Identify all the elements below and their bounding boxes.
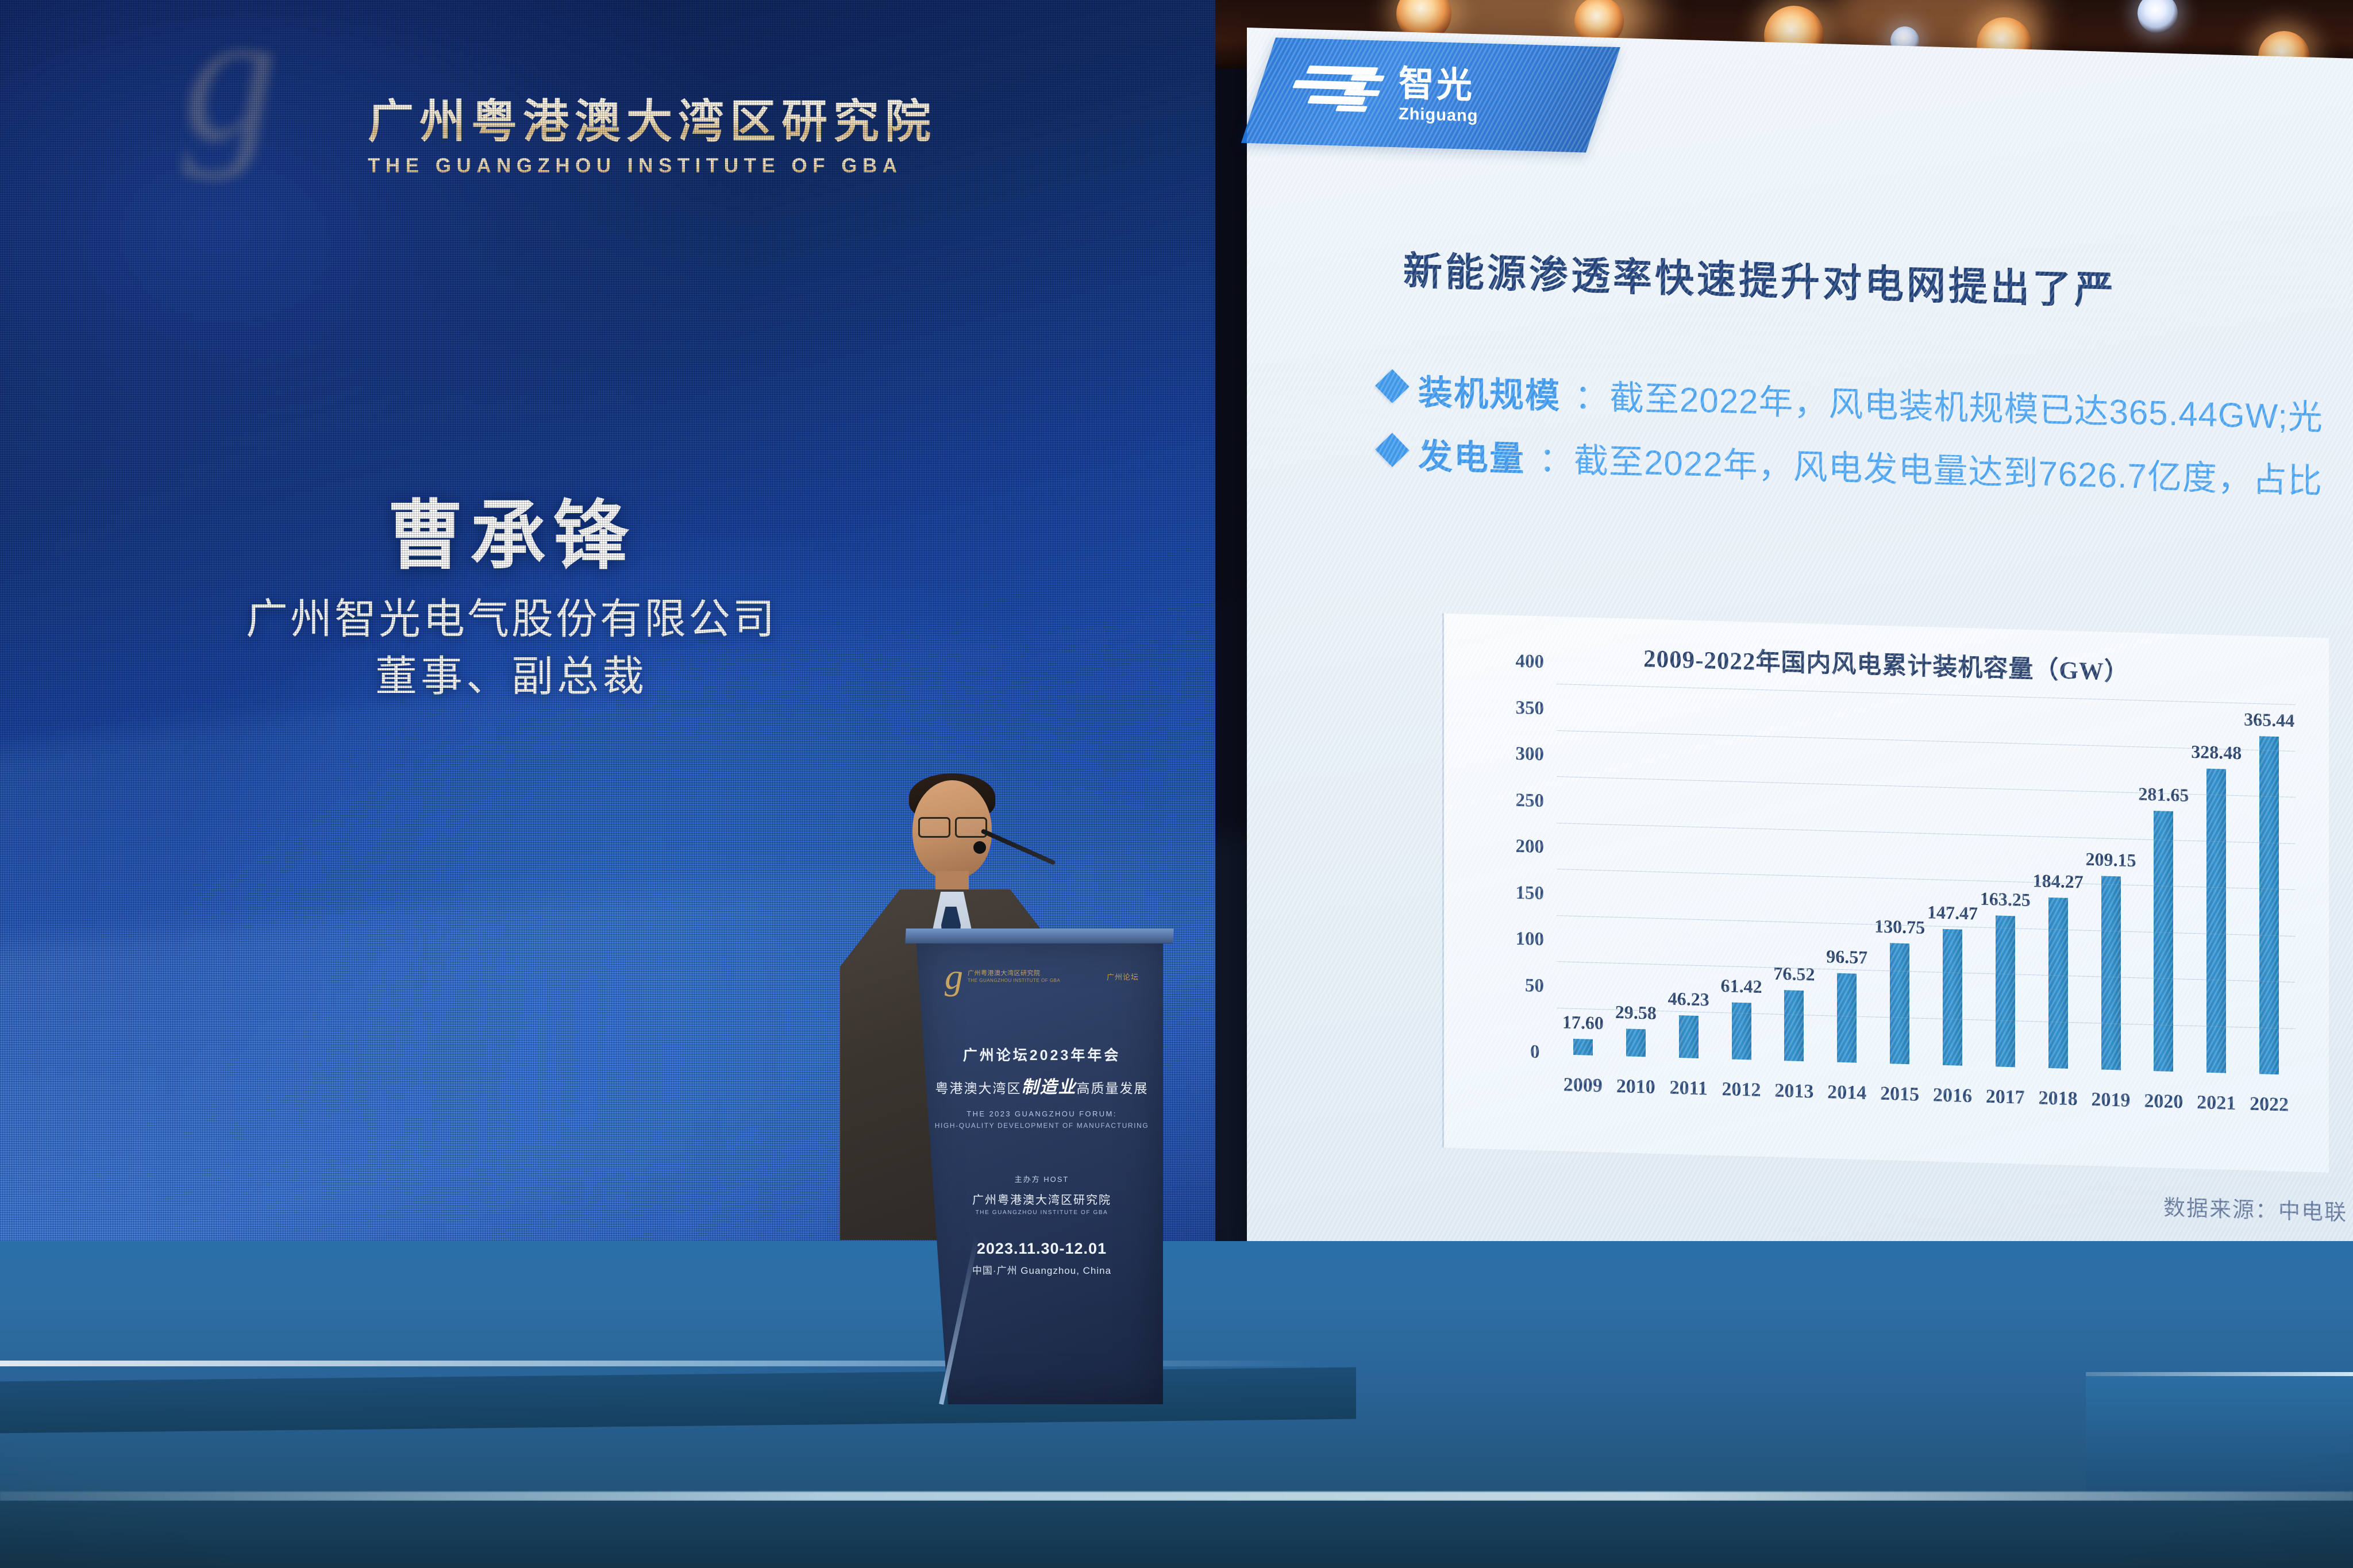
subheading-emphasis: 制造业 (1022, 1078, 1077, 1097)
presentation-screen: 智光 Zhiguang 新能源渗透率快速提升对电网提出了严 装机规模 ：截至20… (1247, 28, 2353, 1294)
chart-bar (1996, 916, 2015, 1068)
podium-forum-en-line1: THE 2023 GUANGZHOU FORUM: (931, 1109, 1153, 1118)
x-axis-tick-label: 2009 (1557, 1074, 1609, 1097)
chart-bar (2154, 811, 2173, 1072)
eyeglasses-icon (918, 817, 987, 834)
x-axis-tick-label: 2016 (1926, 1084, 1979, 1108)
y-axis-tick-label: 150 (1516, 882, 1545, 904)
bar-value-label: 365.44 (2244, 708, 2294, 731)
x-axis-tick-label: 2014 (1820, 1081, 1873, 1105)
podium-top-surface (905, 929, 1173, 943)
chart-bar (1573, 1039, 1593, 1055)
zhiguang-bars-icon (1292, 63, 1384, 122)
speaker-name: 曹承锋 (132, 494, 891, 577)
bar-value-label: 46.23 (1668, 988, 1709, 1010)
subheading-prefix: 粤港澳大湾区 (935, 1081, 1022, 1096)
bar-value-label: 209.15 (2086, 849, 2136, 871)
microphone-icon (973, 841, 986, 854)
bar-value-label: 96.57 (1826, 946, 1867, 968)
x-axis-tick-label: 2020 (2137, 1090, 2190, 1114)
bar-value-label: 184.27 (2033, 870, 2084, 893)
x-axis-tick-label: 2019 (2085, 1089, 2138, 1112)
podium-host-en: THE GUANGZHOU INSTITUTE OF GBA (931, 1209, 1153, 1216)
chart-bar (2048, 897, 2068, 1069)
bar-value-label: 147.47 (1927, 901, 1978, 924)
chart-bar (2101, 876, 2121, 1070)
x-axis-tick-label: 2012 (1715, 1078, 1768, 1102)
chart-bar (1626, 1029, 1646, 1057)
chart-bar (1837, 973, 1857, 1062)
x-axis-tick-label: 2017 (1979, 1086, 2032, 1109)
x-axis-tick-label: 2010 (1609, 1076, 1662, 1099)
y-axis-tick-label: 100 (1516, 929, 1545, 950)
institute-name-block: 广州粤港澳大湾区研究院 THE GUANGZHOU INSTITUTE OF G… (368, 98, 1126, 178)
podium-forum-en-line2: HIGH-QUALITY DEVELOPMENT OF MANUFACTURIN… (931, 1122, 1153, 1130)
podium-logo-en: THE GUANGZHOU INSTITUTE OF GBA (968, 978, 1060, 984)
right-dais (2086, 1376, 2353, 1491)
bar-value-label: 130.75 (1874, 915, 1925, 938)
bullet-text: ：截至2022年，风电发电量达到7626.7亿度，占比 (1539, 432, 2323, 503)
y-axis-zero-label: 0 (1530, 1042, 1540, 1063)
podium-g-mark-icon: g (945, 962, 963, 991)
gba-logo: g (183, 5, 321, 177)
zhiguang-name-en: Zhiguang (1399, 106, 1478, 125)
podium-forum-subheading: 粤港澳大湾区制造业高质量发展 (931, 1073, 1153, 1098)
chart-bar (1943, 929, 1962, 1065)
chart-x-axis: 2009201020112012201320142015201620172018… (1557, 1074, 2296, 1116)
institute-name-cn: 广州粤港澳大湾区研究院 (368, 98, 1126, 147)
speaker-title: 董事、副总裁 (132, 650, 891, 703)
speaker-podium: g 广州粤港澳大湾区研究院 THE GUANGZHOU INSTITUTE OF… (916, 938, 1163, 1404)
chart-bar (1679, 1015, 1699, 1058)
podium-event-city: 中国·广州 Guangzhou, China (931, 1262, 1153, 1277)
gba-g-mark-icon: g (183, 5, 303, 177)
bar-value-label: 328.48 (2191, 741, 2242, 764)
y-axis-tick-label: 400 (1516, 651, 1545, 673)
slide-title: 新能源渗透率快速提升对电网提出了严 (1403, 239, 2353, 326)
bar-value-label: 76.52 (1773, 962, 1815, 985)
chart-bar (1784, 990, 1804, 1061)
podium-host-cn: 广州粤港澳大湾区研究院 (931, 1191, 1153, 1207)
bar-value-label: 17.60 (1562, 1011, 1604, 1034)
bullet-label: 发电量 (1418, 428, 1525, 481)
y-axis-tick-label: 50 (1525, 975, 1544, 997)
chart-source-note: 数据来源：中电联 (2163, 1190, 2347, 1227)
bullet-text: ：截至2022年，风电装机规模已达365.44GW;光 (1574, 369, 2323, 440)
podium-city-mark: 广州论坛 (1107, 971, 1139, 982)
floor-foreground (0, 1501, 2353, 1568)
microphone-boom (980, 829, 1056, 865)
wind-capacity-bar-chart: 2009-2022年国内风电累计装机容量（GW） 17.6029.5846.23… (1442, 613, 2329, 1172)
subheading-suffix: 高质量发展 (1077, 1081, 1149, 1096)
x-axis-tick-label: 2021 (2190, 1092, 2243, 1115)
x-axis-tick-label: 2013 (1767, 1080, 1820, 1103)
bar-value-label: 281.65 (2138, 783, 2189, 806)
bar-value-label: 61.42 (1721, 975, 1762, 997)
conference-stage-photo: g 广州粤港澳大湾区研究院 THE GUANGZHOU INSTITUTE OF… (0, 0, 2353, 1568)
speaker-info-block: 曹承锋 广州智光电气股份有限公司 董事、副总裁 (132, 494, 891, 703)
podium-event-date: 2023.11.30-12.01 (931, 1240, 1153, 1258)
y-axis-tick-label: 250 (1516, 789, 1545, 811)
y-axis-tick-label: 300 (1516, 743, 1545, 765)
diamond-bullet-icon (1375, 433, 1409, 467)
x-axis-tick-label: 2022 (2243, 1093, 2296, 1116)
slide-bullet-list: 装机规模 ：截至2022年，风电装机规模已达365.44GW;光 发电量 ：截至… (1380, 363, 2353, 522)
podium-graphics: g 广州粤港澳大湾区研究院 THE GUANGZHOU INSTITUTE OF… (931, 962, 1153, 1277)
chart-plot-area: 17.6029.5846.2361.4276.5296.57130.75147.… (1557, 684, 2296, 1075)
bar-value-label: 29.58 (1615, 1001, 1657, 1024)
floor-light-strip (0, 1492, 2353, 1501)
bullet-label: 装机规模 (1418, 364, 1561, 418)
podium-forum-heading: 广州论坛2023年年会 (931, 1044, 1153, 1065)
institute-name-en: THE GUANGZHOU INSTITUTE OF GBA (368, 155, 1126, 178)
chart-bar (2259, 736, 2279, 1074)
diamond-bullet-icon (1375, 369, 1409, 403)
speaker-organization: 广州智光电气股份有限公司 (132, 592, 891, 646)
y-axis-tick-label: 200 (1516, 836, 1545, 858)
chart-bar (1732, 1003, 1751, 1060)
zhiguang-name-cn: 智光 (1399, 66, 1478, 104)
x-axis-tick-label: 2018 (2032, 1087, 2085, 1111)
podium-logo-cn: 广州粤港澳大湾区研究院 (968, 969, 1060, 977)
list-item: 发电量 ：截至2022年，风电发电量达到7626.7亿度，占比 (1380, 427, 2353, 508)
chart-bar (2206, 769, 2226, 1073)
x-axis-tick-label: 2011 (1662, 1077, 1715, 1100)
podium-host-label: 主办方 HOST (931, 1173, 1153, 1184)
chart-bar (1890, 943, 1909, 1064)
y-axis-tick-label: 350 (1516, 697, 1545, 719)
x-axis-tick-label: 2015 (1873, 1082, 1926, 1106)
bar-value-label: 163.25 (1980, 888, 2031, 911)
zhiguang-logo: 智光 Zhiguang (1241, 37, 1620, 152)
